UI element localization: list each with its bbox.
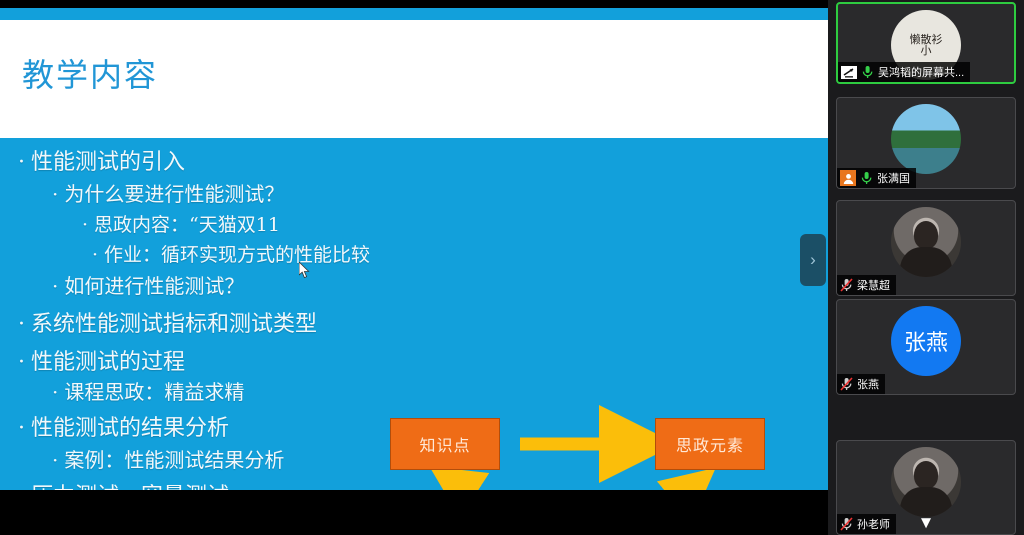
- slide-bullet: ·性能测试的结果分析: [18, 410, 229, 442]
- slide-bullet-text: 性能测试的引入: [31, 150, 185, 175]
- microphone-icon: [861, 65, 874, 79]
- course-concept-diagram: 知识点 思政元素 职业技能: [380, 403, 810, 490]
- slide-bullet: ·作业：循环实现方式的性能比较: [92, 240, 370, 267]
- participant-nameplate: 张满国: [837, 168, 916, 188]
- participant-name: 梁慧超: [857, 277, 890, 293]
- participant-tile[interactable]: 张燕张燕: [836, 299, 1016, 395]
- avatar-silhouette: [914, 461, 938, 489]
- slide-bullet-text: 作业：循环实现方式的性能比较: [104, 244, 370, 266]
- bullet-marker: ·: [52, 274, 58, 298]
- slide-bullet: ·性能测试的过程: [18, 344, 185, 376]
- bullet-marker: ·: [18, 312, 25, 337]
- host-badge-icon: [840, 170, 856, 186]
- slide-bullet-text: 案例：性能测试结果分析: [64, 448, 284, 472]
- microphone-icon: [860, 171, 873, 185]
- slide-bullet-text: 系统性能测试指标和测试类型: [31, 312, 317, 337]
- slide-bullet-text: 性能测试的过程: [31, 350, 185, 375]
- bullet-marker: ·: [52, 182, 58, 206]
- slide-bullet-text: 为什么要进行性能测试？: [64, 182, 284, 206]
- bullet-marker: ·: [52, 448, 58, 472]
- bullet-marker: ·: [52, 380, 58, 404]
- avatar: 张燕: [891, 306, 961, 376]
- microphone-muted-icon: [840, 517, 853, 531]
- microphone-muted-icon: [840, 377, 853, 391]
- avatar-silhouette: [914, 221, 938, 249]
- participant-name: 张满国: [877, 170, 910, 186]
- slide-bullet-text: 性能测试的结果分析: [31, 416, 229, 441]
- page-title: 教学内容: [22, 50, 158, 96]
- bullet-marker: ·: [18, 150, 25, 175]
- slide-bullet: ·思政内容：“天猫双11: [82, 210, 280, 237]
- slide-bullet: ·为什么要进行性能测试？: [52, 178, 284, 207]
- screen-share-icon: [841, 66, 857, 79]
- slide-top-black-band: [0, 0, 828, 8]
- slide-bullet-text: 思政内容：“天猫双11: [94, 214, 280, 236]
- participant-video-strip[interactable]: 懒散衫小吴鸿韬的屏幕共...张满国梁慧超张燕张燕孙老师▼: [828, 0, 1024, 535]
- diagram-box-ideology: 思政元素: [655, 418, 765, 470]
- avatar-shoulders: [900, 247, 952, 277]
- slide-top-blue-band: [0, 8, 828, 20]
- next-slide-button[interactable]: ›: [800, 234, 826, 286]
- slide-bullet: ·如何进行性能测试？: [52, 270, 244, 299]
- avatar-calligraphy-text: 懒散衫小: [908, 34, 944, 56]
- participant-tile[interactable]: 张满国: [836, 97, 1016, 189]
- slide-body: ·性能测试的引入·为什么要进行性能测试？·思政内容：“天猫双11·作业：循环实现…: [0, 138, 828, 490]
- chevron-right-icon: ›: [810, 250, 816, 270]
- participant-name: 吴鸿韬的屏幕共...: [878, 64, 964, 80]
- slide-bullet: ·压力测试、容量测试: [18, 478, 229, 490]
- participant-name: 张燕: [857, 376, 879, 392]
- bullet-marker: ·: [18, 350, 25, 375]
- slide-bullet: ·案例：性能测试结果分析: [52, 444, 284, 473]
- scroll-down-chevron-icon[interactable]: ▼: [918, 514, 935, 531]
- avatar: [891, 447, 961, 517]
- slide-bullet-text: 如何进行性能测试？: [64, 274, 244, 298]
- microphone-muted-icon: [840, 278, 853, 292]
- participant-nameplate: 张燕: [837, 374, 885, 394]
- bullet-marker: ·: [82, 214, 88, 236]
- participant-tile[interactable]: 梁慧超: [836, 200, 1016, 296]
- meeting-screen-share-view: 教学内容 ·性能测试的引入·为什么要进行性能测试？·思政内容：“天猫双11·作业…: [0, 0, 1024, 535]
- slide-bullet: ·课程思政：精益求精: [52, 376, 244, 405]
- participant-nameplate: 梁慧超: [837, 275, 896, 295]
- mouse-cursor: [299, 262, 311, 280]
- slide-bullet-text: 课程思政：精益求精: [64, 380, 244, 404]
- avatar: [891, 104, 961, 174]
- shared-screen-region[interactable]: 教学内容 ·性能测试的引入·为什么要进行性能测试？·思政内容：“天猫双11·作业…: [0, 0, 828, 490]
- bullet-marker: ·: [18, 416, 25, 441]
- participant-name: 孙老师: [857, 516, 890, 532]
- participant-nameplate: 孙老师: [837, 514, 896, 534]
- slide-bullet: ·性能测试的引入: [18, 144, 185, 176]
- bullet-marker: ·: [92, 244, 98, 266]
- participant-tile[interactable]: 懒散衫小吴鸿韬的屏幕共...: [836, 2, 1016, 84]
- participant-nameplate: 吴鸿韬的屏幕共...: [838, 62, 970, 82]
- diagram-box-knowledge: 知识点: [390, 418, 500, 470]
- avatar-initials: 张燕: [904, 325, 948, 357]
- avatar: [891, 207, 961, 277]
- slide-bullet: ·系统性能测试指标和测试类型: [18, 306, 317, 338]
